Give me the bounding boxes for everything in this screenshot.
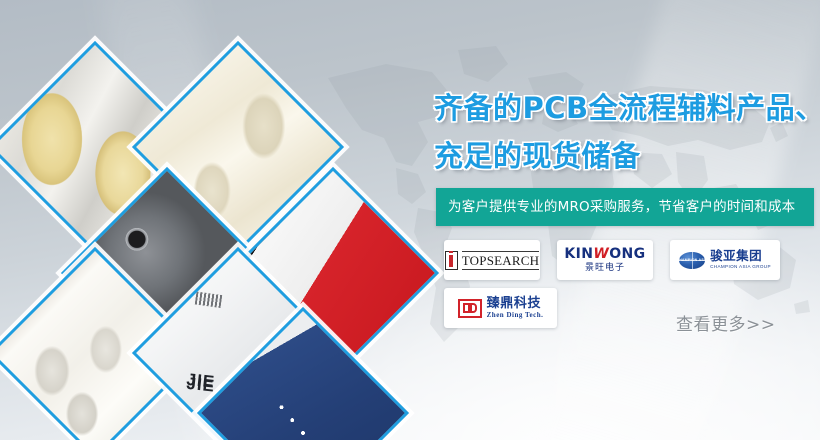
view-more-link[interactable]: 查看更多>>	[676, 310, 776, 335]
subtitle-text: 为客户提供专业的MRO采购服务，节省客户的时间和成本	[436, 188, 814, 226]
headline-line-1: 齐备的PCB全流程辅料产品、	[434, 84, 820, 132]
champion-asia-label-en: CHAMPION ASIA GROUP	[710, 265, 771, 270]
partner-logo-row-1: TOPSEARCH KINWONG 景旺电子 CHAMPION ASIA 骏亚集…	[444, 240, 780, 280]
partner-logo-row-2: 臻鼎科技 Zhen Ding Tech.	[444, 288, 557, 328]
champion-asia-label-cn: 骏亚集团	[710, 250, 771, 263]
headline-line-2: 充足的现货储备	[434, 132, 641, 180]
logo-zhen-ding[interactable]: 臻鼎科技 Zhen Ding Tech.	[444, 288, 557, 328]
collage-tile-jie-label: JIE	[185, 369, 215, 392]
champion-asia-globe-label: CHAMPION ASIA	[679, 258, 705, 262]
banner-content: 齐备的PCB全流程辅料产品、 充足的现货储备 为客户提供专业的MRO采购服务，节…	[432, 0, 820, 440]
kinwong-label-b: ONG	[609, 246, 645, 262]
globe-icon: CHAMPION ASIA	[679, 252, 705, 269]
zhen-ding-label-en: Zhen Ding Tech.	[487, 312, 544, 319]
kinwong-label-a: KIN	[564, 246, 593, 262]
logo-kinwong[interactable]: KINWONG 景旺电子	[557, 240, 653, 280]
kinwong-label-cn: 景旺电子	[564, 264, 645, 273]
topsearch-mark-icon	[445, 251, 458, 270]
topsearch-label: TOPSEARCH	[462, 251, 539, 270]
zhen-ding-mark-icon	[458, 299, 482, 318]
subtitle-bar: 为客户提供专业的MRO采购服务，节省客户的时间和成本	[436, 188, 814, 226]
zhen-ding-label-cn: 臻鼎科技	[487, 297, 544, 310]
logo-champion-asia[interactable]: CHAMPION ASIA 骏亚集团 CHAMPION ASIA GROUP	[670, 240, 780, 280]
promo-banner: JIE 齐备的PCB全流程辅料产品、 充足的现货储备 为客户提供专业的MRO采购…	[0, 0, 820, 440]
logo-topsearch[interactable]: TOPSEARCH	[444, 240, 540, 280]
kinwong-label-w: W	[593, 246, 609, 262]
product-photo-collage: JIE	[0, 0, 430, 440]
